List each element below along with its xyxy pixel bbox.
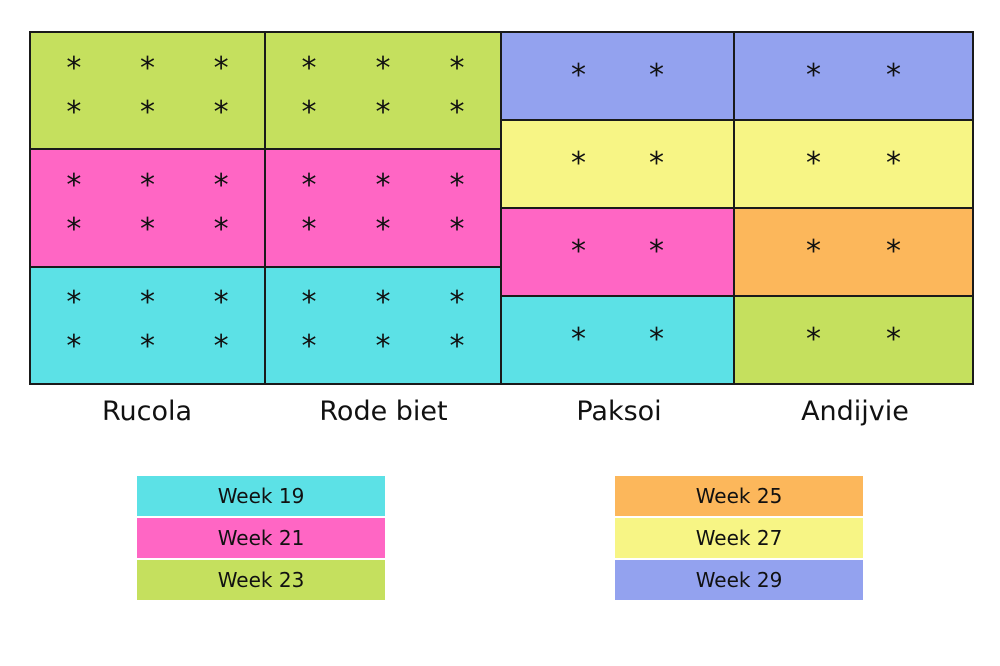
asterisk-marker-icon: * bbox=[649, 61, 664, 91]
asterisk-marker-icon: * bbox=[571, 61, 586, 91]
star-row: ** bbox=[735, 54, 972, 98]
asterisk-marker-icon: * bbox=[301, 288, 316, 318]
asterisk-marker-icon: * bbox=[214, 215, 229, 245]
grid-cell: ****** bbox=[266, 150, 500, 267]
grid-cell: ** bbox=[502, 297, 733, 383]
star-row: ** bbox=[502, 318, 733, 362]
grid-cell: ****** bbox=[31, 33, 264, 150]
asterisk-marker-icon: * bbox=[886, 237, 901, 267]
asterisk-marker-icon: * bbox=[140, 288, 155, 318]
asterisk-marker-icon: * bbox=[301, 98, 316, 128]
grid-column-andijvie: ******** bbox=[735, 33, 972, 383]
star-row: *** bbox=[266, 91, 500, 135]
asterisk-marker-icon: * bbox=[301, 332, 316, 362]
asterisk-marker-icon: * bbox=[449, 171, 464, 201]
asterisk-marker-icon: * bbox=[66, 54, 81, 84]
grid-cell: ** bbox=[502, 209, 733, 297]
grid-cell: ** bbox=[502, 121, 733, 209]
asterisk-marker-icon: * bbox=[806, 237, 821, 267]
legend-left-group: Week 19Week 21Week 23 bbox=[137, 476, 385, 600]
asterisk-marker-icon: * bbox=[449, 288, 464, 318]
asterisk-marker-icon: * bbox=[375, 332, 390, 362]
asterisk-marker-icon: * bbox=[886, 61, 901, 91]
column-label-paksoi: Paksoi bbox=[502, 396, 736, 427]
asterisk-marker-icon: * bbox=[214, 98, 229, 128]
star-row: ** bbox=[735, 230, 972, 274]
asterisk-marker-icon: * bbox=[649, 325, 664, 355]
asterisk-marker-icon: * bbox=[66, 171, 81, 201]
asterisk-marker-icon: * bbox=[649, 149, 664, 179]
asterisk-marker-icon: * bbox=[886, 149, 901, 179]
asterisk-marker-icon: * bbox=[66, 215, 81, 245]
grid-column-rode-biet: ****************** bbox=[266, 33, 502, 383]
star-row: ** bbox=[502, 230, 733, 274]
grid-cell: ** bbox=[502, 33, 733, 121]
asterisk-marker-icon: * bbox=[375, 171, 390, 201]
star-row: *** bbox=[31, 208, 264, 252]
asterisk-marker-icon: * bbox=[571, 149, 586, 179]
star-row: ** bbox=[502, 54, 733, 98]
asterisk-marker-icon: * bbox=[301, 171, 316, 201]
grid-cell: ****** bbox=[31, 268, 264, 383]
star-row: *** bbox=[266, 47, 500, 91]
asterisk-marker-icon: * bbox=[375, 288, 390, 318]
star-row: *** bbox=[31, 47, 264, 91]
column-label-rucola: Rucola bbox=[29, 396, 265, 427]
star-row: *** bbox=[31, 164, 264, 208]
asterisk-marker-icon: * bbox=[66, 288, 81, 318]
column-label-rode-biet: Rode biet bbox=[265, 396, 502, 427]
asterisk-marker-icon: * bbox=[375, 98, 390, 128]
legend-item-week-29: Week 29 bbox=[615, 560, 863, 600]
star-row: ** bbox=[502, 142, 733, 186]
planting-schedule-grid: ****************************************… bbox=[29, 31, 974, 385]
star-row: *** bbox=[266, 325, 500, 369]
crop-column-labels: RucolaRode bietPaksoiAndijvie bbox=[29, 396, 974, 427]
asterisk-marker-icon: * bbox=[214, 332, 229, 362]
grid-column-rucola: ****************** bbox=[31, 33, 266, 383]
asterisk-marker-icon: * bbox=[449, 332, 464, 362]
grid-cell: ** bbox=[735, 297, 972, 383]
asterisk-marker-icon: * bbox=[140, 332, 155, 362]
asterisk-marker-icon: * bbox=[886, 325, 901, 355]
grid-cell: ****** bbox=[266, 33, 500, 150]
asterisk-marker-icon: * bbox=[301, 54, 316, 84]
asterisk-marker-icon: * bbox=[214, 171, 229, 201]
asterisk-marker-icon: * bbox=[571, 237, 586, 267]
asterisk-marker-icon: * bbox=[806, 325, 821, 355]
asterisk-marker-icon: * bbox=[649, 237, 664, 267]
star-row: *** bbox=[266, 281, 500, 325]
star-row: *** bbox=[31, 91, 264, 135]
star-row: *** bbox=[31, 325, 264, 369]
asterisk-marker-icon: * bbox=[140, 171, 155, 201]
asterisk-marker-icon: * bbox=[806, 61, 821, 91]
legend-item-week-23: Week 23 bbox=[137, 560, 385, 600]
grid-cell: ****** bbox=[31, 150, 264, 267]
asterisk-marker-icon: * bbox=[571, 325, 586, 355]
asterisk-marker-icon: * bbox=[449, 54, 464, 84]
asterisk-marker-icon: * bbox=[375, 215, 390, 245]
grid-cell: ** bbox=[735, 209, 972, 297]
asterisk-marker-icon: * bbox=[375, 54, 390, 84]
star-row: ** bbox=[735, 142, 972, 186]
star-row: *** bbox=[266, 164, 500, 208]
asterisk-marker-icon: * bbox=[449, 215, 464, 245]
asterisk-marker-icon: * bbox=[140, 215, 155, 245]
asterisk-marker-icon: * bbox=[214, 54, 229, 84]
legend-item-week-25: Week 25 bbox=[615, 476, 863, 516]
asterisk-marker-icon: * bbox=[66, 98, 81, 128]
asterisk-marker-icon: * bbox=[66, 332, 81, 362]
asterisk-marker-icon: * bbox=[301, 215, 316, 245]
grid-cell: ****** bbox=[266, 268, 500, 383]
asterisk-marker-icon: * bbox=[140, 98, 155, 128]
asterisk-marker-icon: * bbox=[449, 98, 464, 128]
star-row: ** bbox=[735, 318, 972, 362]
legend-right-group: Week 25Week 27Week 29 bbox=[615, 476, 863, 600]
star-row: *** bbox=[31, 281, 264, 325]
star-row: *** bbox=[266, 208, 500, 252]
column-label-andijvie: Andijvie bbox=[736, 396, 974, 427]
asterisk-marker-icon: * bbox=[140, 54, 155, 84]
grid-cell: ** bbox=[735, 121, 972, 209]
grid-column-paksoi: ******** bbox=[502, 33, 735, 383]
legend-item-week-27: Week 27 bbox=[615, 518, 863, 558]
grid-cell: ** bbox=[735, 33, 972, 121]
asterisk-marker-icon: * bbox=[214, 288, 229, 318]
legend-item-week-21: Week 21 bbox=[137, 518, 385, 558]
asterisk-marker-icon: * bbox=[806, 149, 821, 179]
legend-item-week-19: Week 19 bbox=[137, 476, 385, 516]
